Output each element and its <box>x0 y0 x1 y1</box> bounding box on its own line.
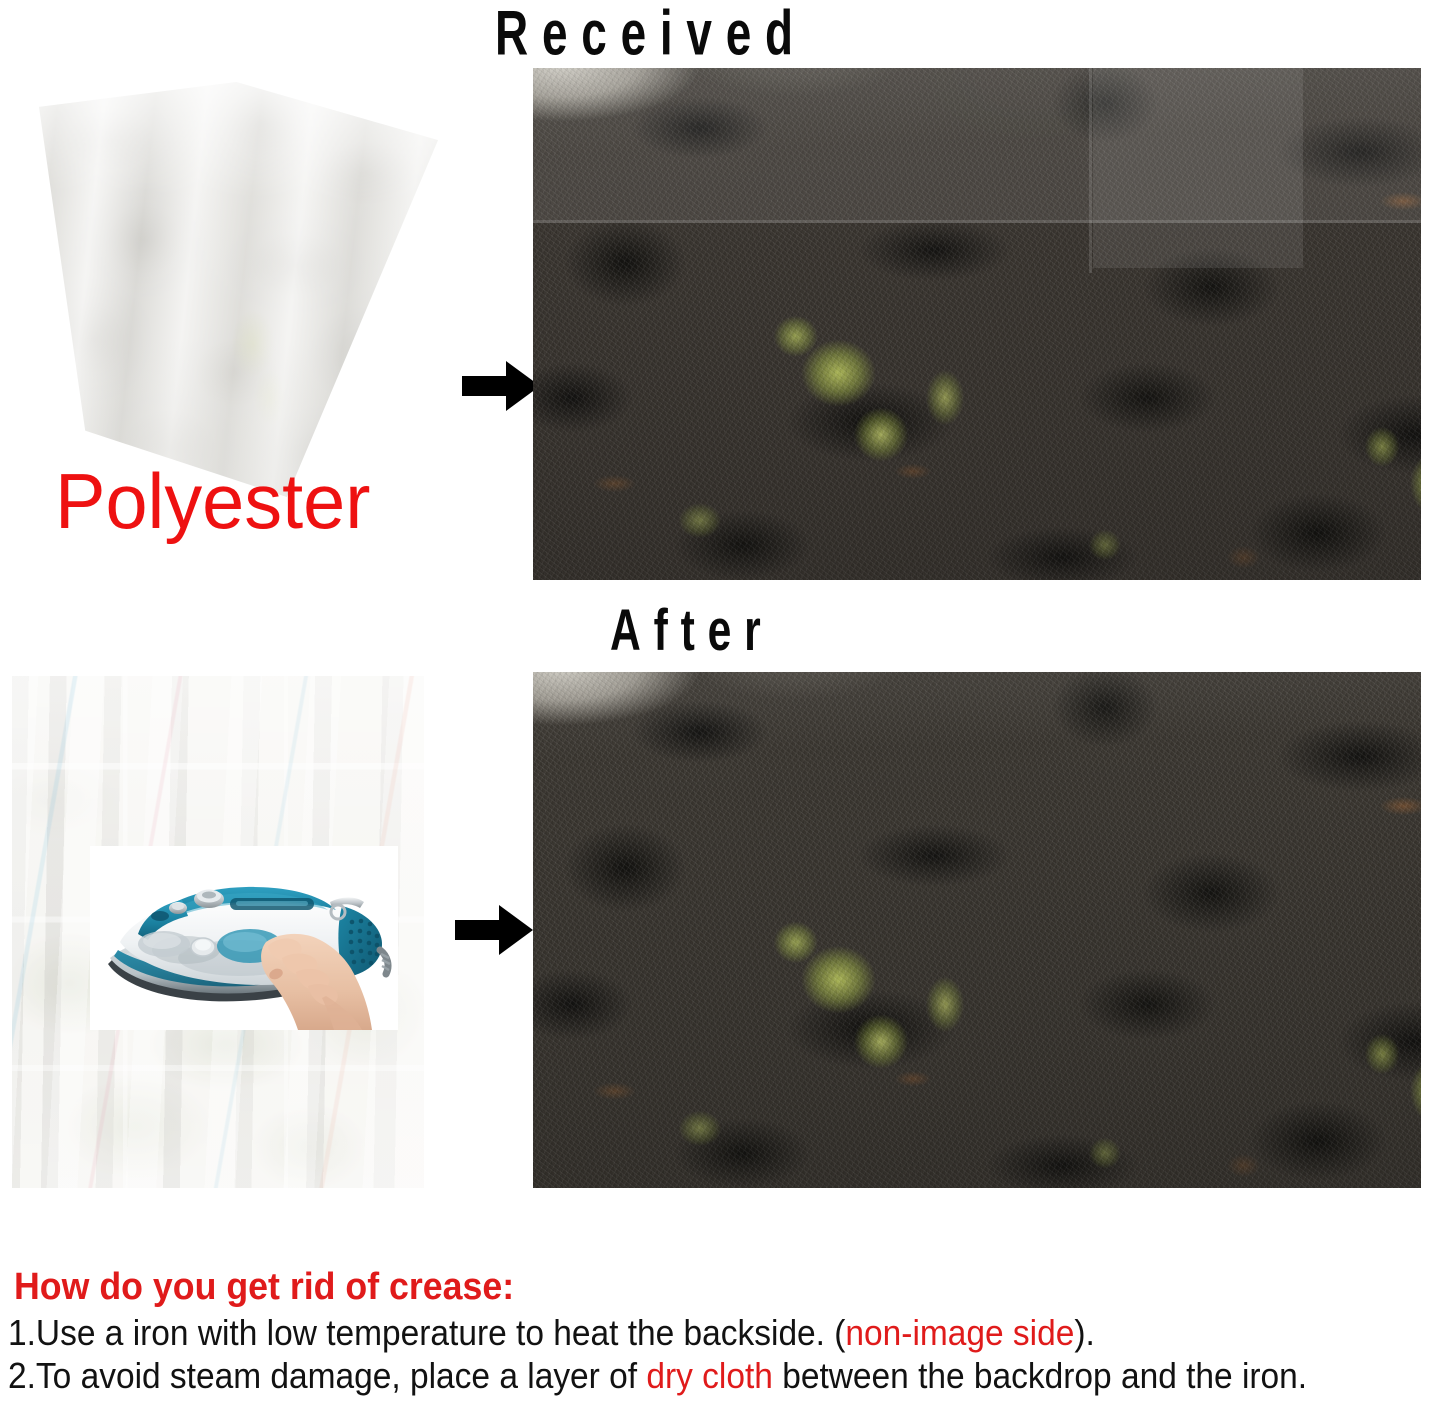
step-2-emphasis: dry cloth <box>646 1355 773 1396</box>
care-instruction-step-1: 1.Use a iron with low temperature to hea… <box>8 1314 1095 1352</box>
after-backdrop-photo <box>533 672 1421 1188</box>
clothes-iron-icon <box>90 846 398 1030</box>
arrow-right-icon-after <box>455 902 533 958</box>
iron-vent-slot <box>151 911 169 921</box>
step-2-text-a: To avoid steam damage, place a layer of <box>36 1355 646 1396</box>
step-2-number: 2. <box>8 1355 36 1396</box>
step-1-text-b: ). <box>1074 1312 1094 1353</box>
care-instructions-heading: How do you get rid of crease: <box>14 1268 514 1306</box>
received-backdrop-photo <box>533 68 1421 580</box>
fabric-sheet-shape <box>18 82 438 497</box>
rock-tonal-grade <box>533 672 1421 1188</box>
step-1-text-a: Use a iron with low temperature to heat … <box>36 1312 846 1353</box>
step-2-text-b: between the backdrop and the iron. <box>773 1355 1307 1396</box>
care-instruction-step-2: 2.To avoid steam damage, place a layer o… <box>8 1357 1307 1395</box>
folded-fabric-image <box>18 82 438 497</box>
rock-tonal-grade <box>533 68 1421 580</box>
section-title-received: Received <box>495 2 807 65</box>
polyester-material-label: Polyester <box>55 462 370 540</box>
step-1-number: 1. <box>8 1312 36 1353</box>
fabric-sheen-highlight <box>18 82 438 497</box>
step-1-emphasis: non-image side <box>845 1312 1074 1353</box>
section-title-after: After <box>610 602 773 660</box>
arrow-right-icon-received <box>462 358 540 414</box>
